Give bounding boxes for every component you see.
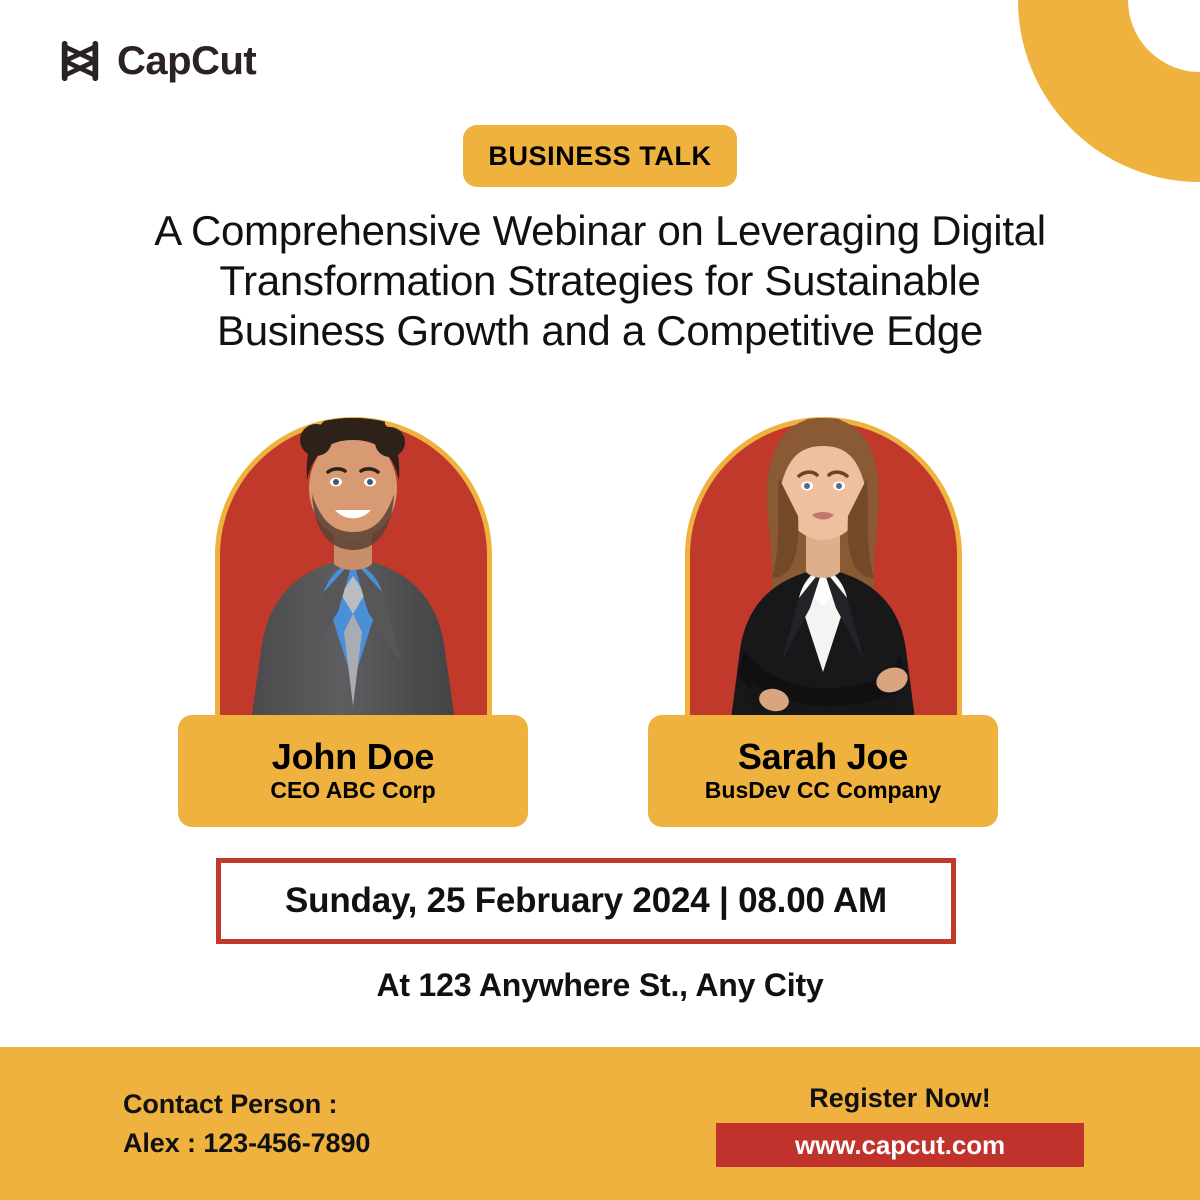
speaker-portrait-female: [648, 382, 998, 742]
contact-block: Contact Person : Alex : 123-456-7890: [123, 1085, 370, 1163]
speaker-card: Sarah Joe BusDev CC Company: [648, 382, 998, 827]
contact-value: Alex : 123-456-7890: [123, 1124, 370, 1163]
event-datetime: Sunday, 25 February 2024 | 08.00 AM: [285, 881, 887, 921]
speaker-role: BusDev CC Company: [705, 778, 941, 803]
register-url-button[interactable]: www.capcut.com: [716, 1123, 1084, 1167]
headline-line-1: A Comprehensive Webinar on Leveraging Di…: [100, 206, 1100, 256]
speaker-portrait-male: [178, 382, 528, 742]
brand-name: CapCut: [117, 41, 256, 81]
page-title: A Comprehensive Webinar on Leveraging Di…: [100, 206, 1100, 356]
speaker-list: John Doe CEO ABC Corp: [0, 382, 1200, 827]
register-title: Register Now!: [716, 1083, 1084, 1114]
business-talk-badge: BUSINESS TALK: [463, 125, 737, 187]
capcut-logo-icon: [57, 38, 103, 84]
register-block: Register Now! www.capcut.com: [716, 1083, 1084, 1167]
webinar-poster: CapCut BUSINESS TALK A Comprehensive Web…: [0, 0, 1200, 1200]
footer-bar: Contact Person : Alex : 123-456-7890 Reg…: [0, 1047, 1200, 1200]
speaker-card: John Doe CEO ABC Corp: [178, 382, 528, 827]
contact-label: Contact Person :: [123, 1085, 370, 1124]
event-address: At 123 Anywhere St., Any City: [100, 967, 1100, 1004]
speaker-name-card: Sarah Joe BusDev CC Company: [648, 715, 998, 827]
speaker-name: Sarah Joe: [738, 738, 908, 776]
badge-label: BUSINESS TALK: [488, 141, 711, 172]
speaker-name: John Doe: [272, 738, 434, 776]
corner-ring-decoration: [1018, 0, 1200, 182]
headline-line-2: Transformation Strategies for Sustainabl…: [100, 256, 1100, 306]
speaker-name-card: John Doe CEO ABC Corp: [178, 715, 528, 827]
event-datetime-box: Sunday, 25 February 2024 | 08.00 AM: [216, 858, 956, 944]
speaker-role: CEO ABC Corp: [270, 778, 435, 803]
brand-logo[interactable]: CapCut: [57, 38, 256, 84]
headline-line-3: Business Growth and a Competitive Edge: [100, 306, 1100, 356]
